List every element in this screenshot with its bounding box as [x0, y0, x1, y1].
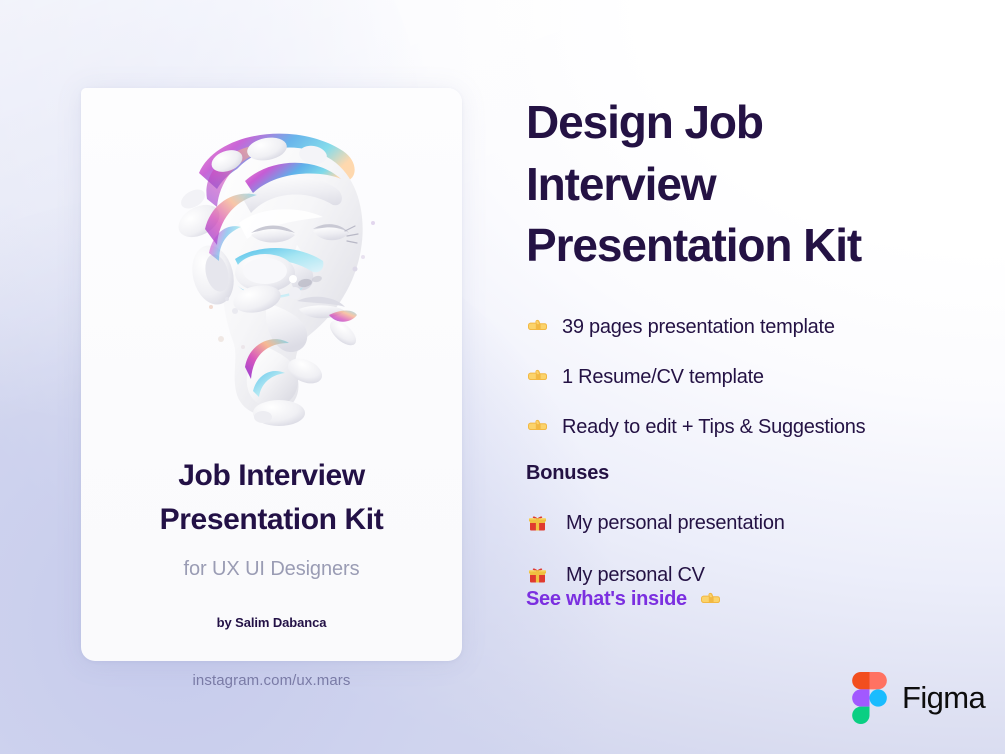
list-item-label: My personal presentation	[566, 512, 785, 534]
list-item: 1 Resume/CV template	[526, 366, 956, 388]
feature-list: 39 pages presentation template 1 Resume/…	[526, 316, 956, 438]
product-cover-card[interactable]: Job Interview Presentation Kit for UX UI…	[81, 88, 462, 661]
card-title: Job Interview Presentation Kit	[107, 454, 437, 542]
list-item: 39 pages presentation template	[526, 316, 956, 338]
card-author: by Salim Dabanca	[217, 615, 327, 630]
list-item-label: Ready to edit + Tips & Suggestions	[562, 416, 865, 438]
card-subtitle: for UX UI Designers	[184, 558, 360, 581]
pointing-right-hand-icon	[700, 591, 721, 608]
pointing-right-hand-icon	[526, 366, 548, 388]
list-item: My personal presentation	[526, 512, 956, 534]
sculpture-artwork	[81, 88, 462, 448]
list-item: My personal CV	[526, 564, 956, 586]
bonus-list: My personal presentation My personal CV	[526, 512, 956, 586]
list-item-label: 1 Resume/CV template	[562, 366, 764, 388]
gift-icon	[526, 512, 548, 534]
promo-poster: Job Interview Presentation Kit for UX UI…	[0, 0, 1005, 754]
figma-brand: Figma	[852, 672, 985, 724]
bonuses-heading: Bonuses	[526, 462, 956, 485]
copy-column: Design Job Interview Presentation Kit 39…	[526, 92, 956, 611]
instagram-handle[interactable]: instagram.com/ux.mars	[81, 672, 462, 689]
gift-icon	[526, 564, 548, 586]
pointing-right-hand-icon	[526, 416, 548, 438]
figma-logo-icon	[852, 672, 887, 724]
list-item-label: My personal CV	[566, 564, 705, 586]
figma-wordmark: Figma	[902, 680, 985, 716]
pointing-right-hand-icon	[526, 316, 548, 338]
see-whats-inside-link[interactable]: See what's inside	[526, 588, 956, 611]
list-item-label: 39 pages presentation template	[562, 316, 835, 338]
see-whats-inside-label: See what's inside	[526, 588, 687, 611]
list-item: Ready to edit + Tips & Suggestions	[526, 416, 956, 438]
page-title: Design Job Interview Presentation Kit	[526, 92, 956, 277]
